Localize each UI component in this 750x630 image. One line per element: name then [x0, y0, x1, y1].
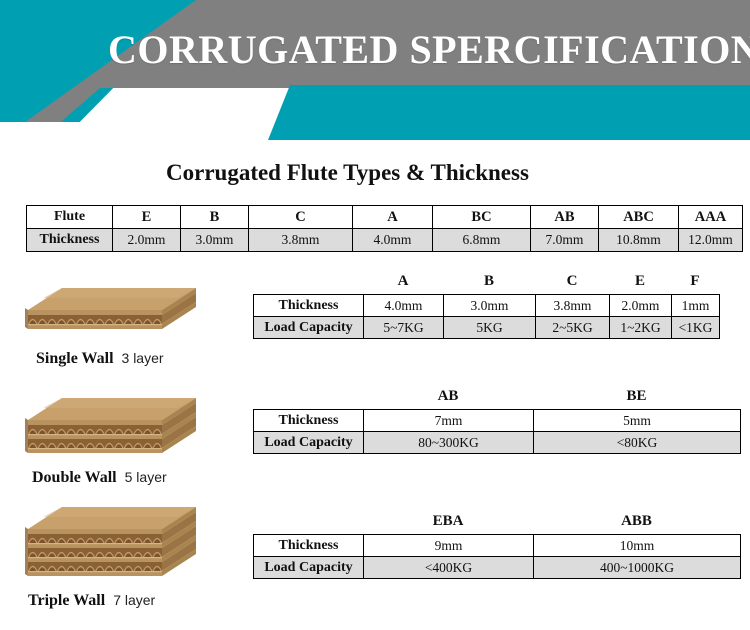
- row-label-thickness: Thickness: [254, 535, 364, 557]
- table-row: Thickness 4.0mm 3.0mm 3.8mm 2.0mm 1mm: [254, 295, 720, 317]
- figure-layers: 5 layer: [125, 469, 167, 485]
- thickness-cell: 4.0mm: [364, 295, 444, 317]
- load-capacity-cell: <1KG: [672, 317, 720, 339]
- thickness-cell: 5mm: [534, 410, 741, 432]
- column-header: ABB: [533, 512, 740, 530]
- double-wall-table-wrap: Thickness 7mm 5mm Load Capacity 80~300KG…: [253, 409, 741, 454]
- header-banner: CORRUGATED SPERCIFICATION: [0, 0, 750, 140]
- figure-name: Triple Wall: [28, 592, 105, 609]
- row-label-load-capacity: Load Capacity: [254, 432, 364, 454]
- table-row: Load Capacity 5~7KG 5KG 2~5KG 1~2KG <1KG: [254, 317, 720, 339]
- row-label-thickness: Thickness: [254, 410, 364, 432]
- banner-bottom-teal-band: [268, 85, 750, 140]
- triple-wall-illustration: [22, 505, 202, 591]
- table-row: Load Capacity <400KG 400~1000KG: [254, 557, 741, 579]
- thickness-cell: 6.8mm: [433, 229, 531, 252]
- triple-wall-table: Thickness 9mm 10mm Load Capacity <400KG …: [253, 534, 741, 579]
- figure-layers: 3 layer: [122, 350, 164, 366]
- row-label-thickness: Thickness: [27, 229, 113, 252]
- triple-wall-caption: Triple Wall7 layer: [28, 592, 155, 610]
- thickness-cell: 7.0mm: [531, 229, 599, 252]
- column-header: C: [535, 272, 609, 290]
- single-wall-table: Thickness 4.0mm 3.0mm 3.8mm 2.0mm 1mm Lo…: [253, 294, 720, 339]
- flute-cell: BC: [433, 206, 531, 229]
- single-wall-illustration: [22, 286, 202, 348]
- column-header: BE: [533, 387, 740, 405]
- double-wall-board-svg: [22, 396, 202, 468]
- thickness-cell: 1mm: [672, 295, 720, 317]
- thickness-cell: 12.0mm: [679, 229, 743, 252]
- load-capacity-cell: 5KG: [444, 317, 536, 339]
- figure-name: Double Wall: [32, 469, 117, 486]
- flute-thickness-table: Flute E B C A BC AB ABC AAA Thickness 2.…: [26, 205, 743, 252]
- flute-cell: AB: [531, 206, 599, 229]
- row-label-thickness: Thickness: [254, 295, 364, 317]
- triple-wall-column-headers: EBA ABB: [253, 512, 740, 530]
- flute-cell: AAA: [679, 206, 743, 229]
- figure-name: Single Wall: [36, 350, 114, 367]
- load-capacity-cell: 1~2KG: [610, 317, 672, 339]
- row-label-load-capacity: Load Capacity: [254, 317, 364, 339]
- flute-cell: E: [113, 206, 181, 229]
- column-header: A: [363, 272, 443, 290]
- single-wall-table-wrap: Thickness 4.0mm 3.0mm 3.8mm 2.0mm 1mm Lo…: [253, 294, 720, 339]
- load-capacity-cell: 80~300KG: [364, 432, 534, 454]
- load-capacity-cell: <400KG: [364, 557, 534, 579]
- header-spacer: [253, 272, 363, 290]
- double-wall-column-headers: AB BE: [253, 387, 740, 405]
- banner-title: CORRUGATED SPERCIFICATION: [108, 24, 750, 76]
- load-capacity-cell: <80KG: [534, 432, 741, 454]
- table-row: Load Capacity 80~300KG <80KG: [254, 432, 741, 454]
- thickness-cell: 2.0mm: [113, 229, 181, 252]
- flute-thickness-table-wrap: Flute E B C A BC AB ABC AAA Thickness 2.…: [26, 205, 743, 252]
- thickness-cell: 9mm: [364, 535, 534, 557]
- banner-white-corner: [0, 122, 108, 140]
- figure-layers: 7 layer: [113, 592, 155, 608]
- row-label-load-capacity: Load Capacity: [254, 557, 364, 579]
- column-header: AB: [363, 387, 533, 405]
- table-row: Thickness 9mm 10mm: [254, 535, 741, 557]
- column-header: EBA: [363, 512, 533, 530]
- header-spacer: [253, 512, 363, 530]
- column-header: E: [609, 272, 671, 290]
- flute-cell: C: [249, 206, 353, 229]
- single-wall-column-headers: A B C E F: [253, 272, 719, 290]
- table-row: Thickness 2.0mm 3.0mm 3.8mm 4.0mm 6.8mm …: [27, 229, 743, 252]
- thickness-cell: 3.0mm: [181, 229, 249, 252]
- single-wall-caption: Single Wall3 layer: [36, 350, 164, 368]
- thickness-cell: 3.8mm: [249, 229, 353, 252]
- double-wall-caption: Double Wall5 layer: [32, 469, 167, 487]
- section-title: Corrugated Flute Types & Thickness: [166, 160, 529, 186]
- row-label-flute: Flute: [27, 206, 113, 229]
- thickness-cell: 3.8mm: [536, 295, 610, 317]
- thickness-cell: 3.0mm: [444, 295, 536, 317]
- thickness-cell: 4.0mm: [353, 229, 433, 252]
- load-capacity-cell: 5~7KG: [364, 317, 444, 339]
- thickness-cell: 10.8mm: [599, 229, 679, 252]
- header-spacer: [253, 387, 363, 405]
- double-wall-table: Thickness 7mm 5mm Load Capacity 80~300KG…: [253, 409, 741, 454]
- flute-cell: B: [181, 206, 249, 229]
- triple-wall-table-wrap: Thickness 9mm 10mm Load Capacity <400KG …: [253, 534, 741, 579]
- double-wall-illustration: [22, 396, 202, 468]
- flute-cell: ABC: [599, 206, 679, 229]
- load-capacity-cell: 2~5KG: [536, 317, 610, 339]
- table-row: Flute E B C A BC AB ABC AAA: [27, 206, 743, 229]
- triple-wall-board-svg: [22, 505, 202, 591]
- thickness-cell: 7mm: [364, 410, 534, 432]
- load-capacity-cell: 400~1000KG: [534, 557, 741, 579]
- flute-cell: A: [353, 206, 433, 229]
- thickness-cell: 10mm: [534, 535, 741, 557]
- table-row: Thickness 7mm 5mm: [254, 410, 741, 432]
- single-wall-board-svg: [22, 286, 202, 348]
- column-header: F: [671, 272, 719, 290]
- thickness-cell: 2.0mm: [610, 295, 672, 317]
- column-header: B: [443, 272, 535, 290]
